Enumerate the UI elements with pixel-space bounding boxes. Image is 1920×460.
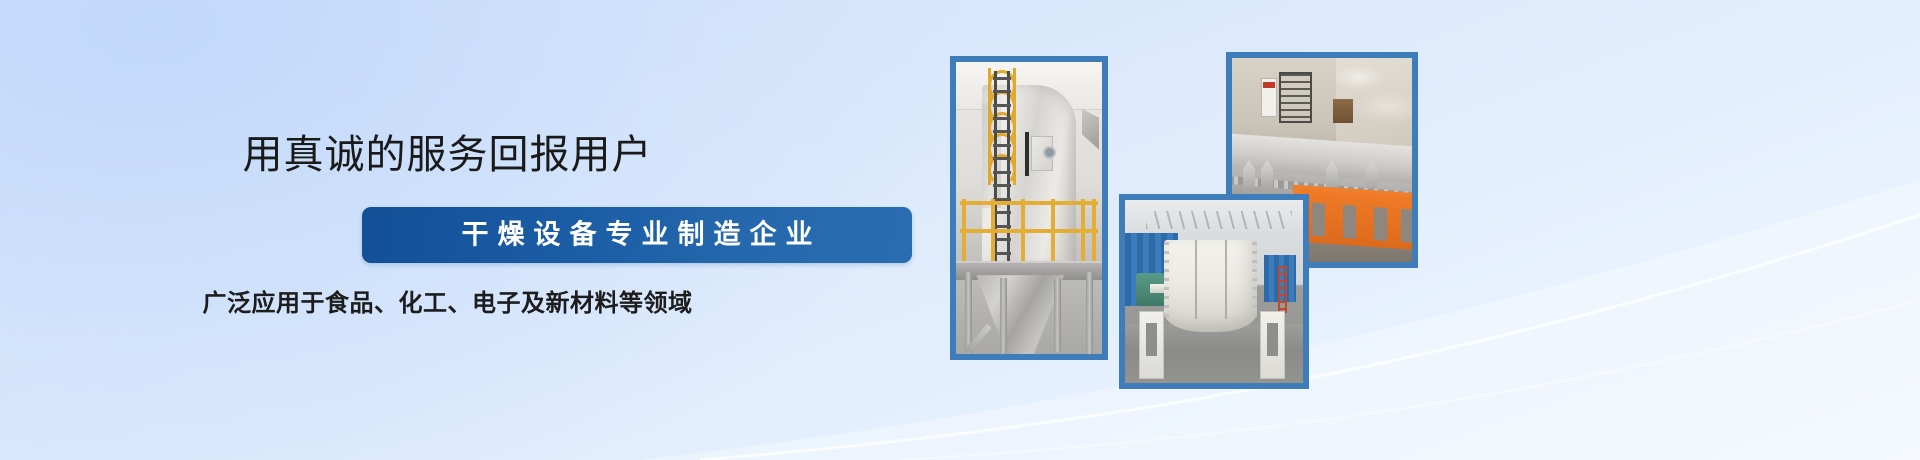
banner-ribbon: 干燥设备专业制造企业 [362,207,912,263]
banner-ribbon-label: 干燥设备专业制造企业 [362,222,912,249]
banner-headline: 用真诚的服务回报用户 [0,135,895,175]
banner-subline: 广泛应用于食品、化工、电子及新材料等领域 [0,292,895,316]
photo-ribbon-mixer [1119,194,1309,389]
photo-spray-dryer-tower [950,56,1108,360]
banner-text-block: 用真诚的服务回报用户 干燥设备专业制造企业 广泛应用于食品、化工、电子及新材料等… [0,0,940,460]
promo-banner: 用真诚的服务回报用户 干燥设备专业制造企业 广泛应用于食品、化工、电子及新材料等… [0,0,1920,460]
